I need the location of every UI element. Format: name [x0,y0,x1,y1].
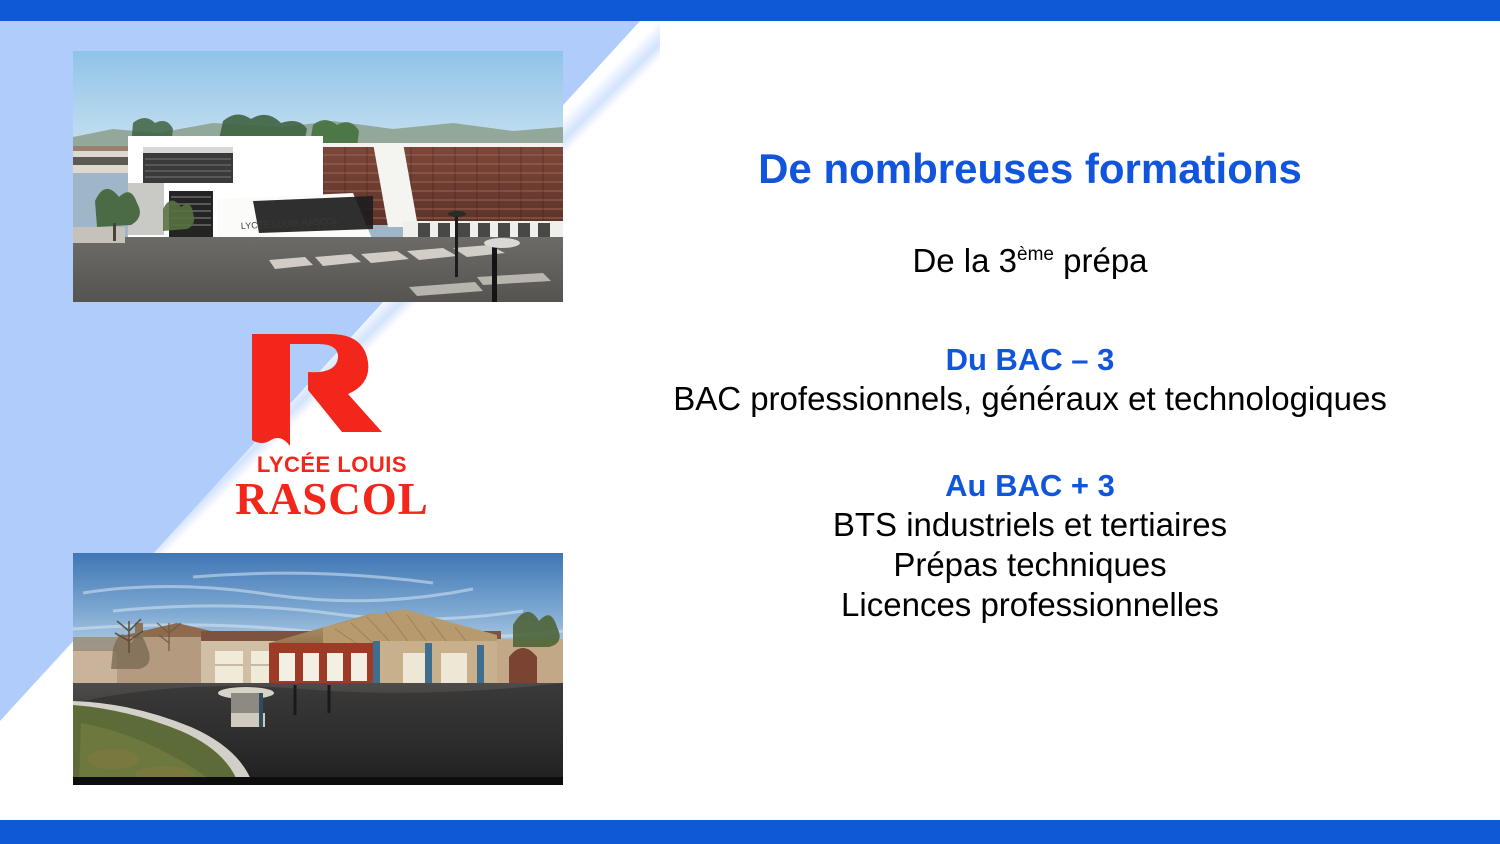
logo-r-mark-icon [232,328,432,453]
page-title: De nombreuses formations [600,145,1460,193]
subtitle-superscript: ème [1017,244,1054,265]
block-line-licences: Licences professionnelles [600,585,1460,625]
block-heading-du-bac-3: Du BAC – 3 [600,341,1460,379]
logo-line-lycee-louis: LYCÉE LOUIS [232,454,432,476]
block-line-bts: BTS industriels et tertiaires [600,505,1460,545]
photo-bottom-illustration [73,553,563,785]
formation-block-bac-moins-3: Du BAC – 3 BAC professionnels, généraux … [600,341,1460,419]
subtitle-prefix: De la 3 [912,242,1017,279]
top-accent-bar [0,0,1500,21]
block-line-bac-types: BAC professionnels, généraux et technolo… [600,379,1460,419]
block-heading-au-bac-3: Au BAC + 3 [600,467,1460,505]
block-line-prepas: Prépas techniques [600,545,1460,585]
bottom-accent-bar [0,820,1500,844]
slide: LYCÉE LOUIS RASCOL [0,0,1500,844]
photo-lycee-batiment-moderne: LYCÉE LOUIS RASCOL [73,51,563,302]
logo-line-rascol: RASCOL [232,476,432,522]
slide-content: De nombreuses formations De la 3ème prép… [600,60,1460,625]
logo-lycee-louis-rascol: LYCÉE LOUIS RASCOL [232,328,432,533]
subtitle-suffix: prépa [1054,242,1148,279]
formation-block-bac-plus-3: Au BAC + 3 BTS industriels et tertiaires… [600,467,1460,625]
subtitle-prepa: De la 3ème prépa [600,241,1460,281]
photo-top-illustration: LYCÉE LOUIS RASCOL [73,51,563,302]
photo-lycee-batiment-brique [73,553,563,785]
